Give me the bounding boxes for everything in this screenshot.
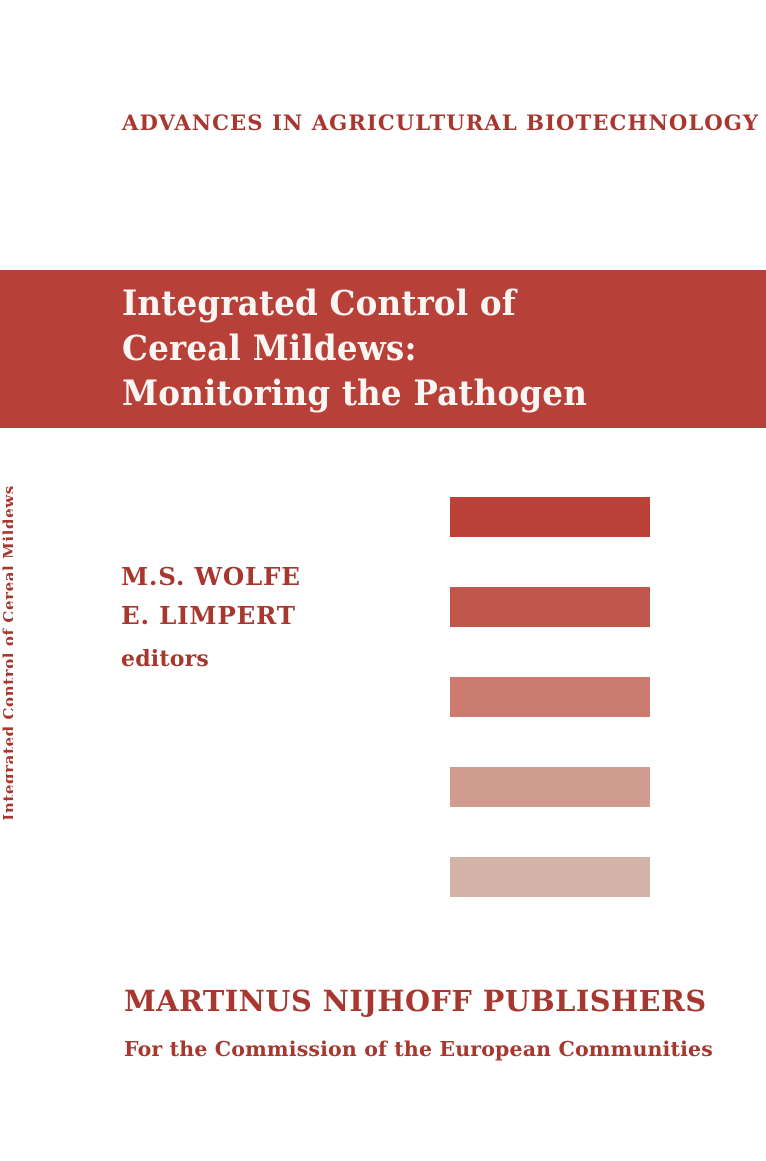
book-cover: ADVANCES IN AGRICULTURAL BIOTECHNOLOGY I… (0, 0, 766, 1161)
spine-text: Integrated Control of Cereal Mildews (0, 438, 13, 860)
publisher-subtitle: For the Commission of the European Commu… (124, 1035, 713, 1063)
decorative-bar-stack (450, 497, 650, 897)
editors-role-label: editors (121, 641, 301, 677)
decorative-bar-2 (450, 587, 650, 627)
editor-name-1: M.S. WOLFE (121, 557, 301, 596)
spine-strip: Integrated Control of Cereal Mildews (0, 430, 13, 860)
decorative-bar-3 (450, 677, 650, 717)
title-line-1: Integrated Control of (122, 281, 587, 326)
publisher-name: MARTINUS NIJHOFF PUBLISHERS (124, 983, 707, 1019)
title-line-2: Cereal Mildews: (122, 326, 587, 371)
title-band: Integrated Control of Cereal Mildews: Mo… (0, 270, 766, 428)
editor-name-2: E. LIMPERT (121, 596, 301, 635)
book-title: Integrated Control of Cereal Mildews: Mo… (122, 281, 622, 416)
decorative-bar-4 (450, 767, 650, 807)
decorative-bar-1 (450, 497, 650, 537)
decorative-bar-5 (450, 857, 650, 897)
publisher-block: MARTINUS NIJHOFF PUBLISHERS For the Comm… (124, 983, 713, 1063)
editors-block: M.S. WOLFE E. LIMPERT editors (121, 557, 301, 677)
series-title: ADVANCES IN AGRICULTURAL BIOTECHNOLOGY (122, 111, 759, 136)
title-line-3: Monitoring the Pathogen (122, 371, 587, 416)
